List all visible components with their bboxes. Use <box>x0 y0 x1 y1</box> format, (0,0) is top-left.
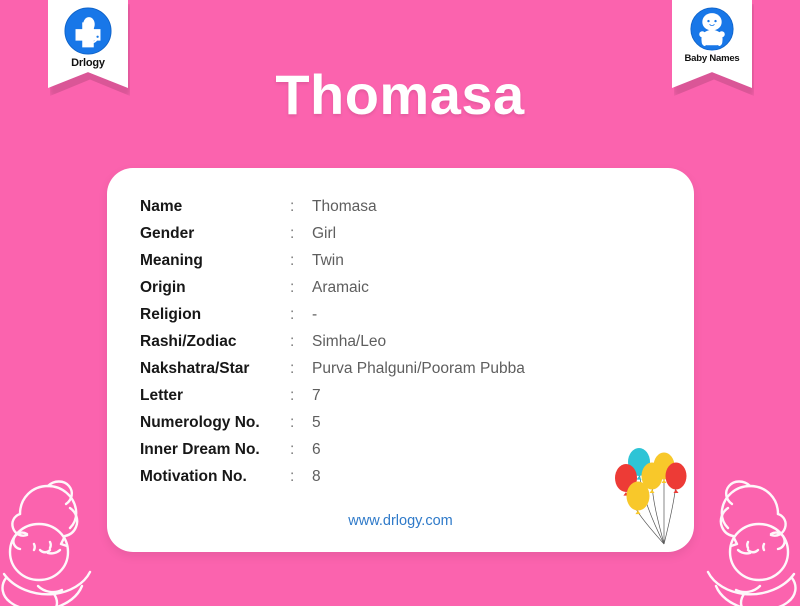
row-value: 7 <box>312 382 525 409</box>
row-value: - <box>312 301 525 328</box>
baby-name-card-page: { "theme": { "background_color": "#fb63a… <box>0 0 800 600</box>
row-value: Twin <box>312 247 525 274</box>
name-details-card: Name : Thomasa Gender : Girl Meaning : T… <box>107 168 694 552</box>
row-separator: : <box>290 193 312 220</box>
table-body: Name : Thomasa Gender : Girl Meaning : T… <box>140 193 525 490</box>
website-link[interactable]: www.drlogy.com <box>107 513 694 529</box>
row-value: Thomasa <box>312 193 525 220</box>
table-row: Name : Thomasa <box>140 193 525 220</box>
page-title: Thomasa <box>0 62 800 127</box>
baby-icon <box>690 7 734 51</box>
row-separator: : <box>290 436 312 463</box>
row-separator: : <box>290 355 312 382</box>
balloons-icon <box>608 440 692 552</box>
row-value: 5 <box>312 409 525 436</box>
row-label: Letter <box>140 382 290 409</box>
table-row: Origin : Aramaic <box>140 274 525 301</box>
table-row: Letter : 7 <box>140 382 525 409</box>
table-row: Rashi/Zodiac : Simha/Leo <box>140 328 525 355</box>
table-row: Meaning : Twin <box>140 247 525 274</box>
row-separator: : <box>290 220 312 247</box>
table-row: Nakshatra/Star : Purva Phalguni/Pooram P… <box>140 355 525 382</box>
row-label: Inner Dream No. <box>140 436 290 463</box>
row-value: Aramaic <box>312 274 525 301</box>
row-value: Girl <box>312 220 525 247</box>
drlogy-doctor-icon <box>64 7 112 55</box>
row-label: Meaning <box>140 247 290 274</box>
row-label: Name <box>140 193 290 220</box>
row-separator: : <box>290 409 312 436</box>
row-label: Numerology No. <box>140 409 290 436</box>
row-label: Motivation No. <box>140 463 290 490</box>
row-separator: : <box>290 301 312 328</box>
table-row: Numerology No. : 5 <box>140 409 525 436</box>
row-value: 8 <box>312 463 525 490</box>
table-row: Inner Dream No. : 6 <box>140 436 525 463</box>
mother-and-baby-watermark-right <box>698 474 800 606</box>
row-separator: : <box>290 247 312 274</box>
row-label: Origin <box>140 274 290 301</box>
table-row: Religion : - <box>140 301 525 328</box>
row-value: 6 <box>312 436 525 463</box>
name-details-table: Name : Thomasa Gender : Girl Meaning : T… <box>140 193 525 490</box>
table-row: Motivation No. : 8 <box>140 463 525 490</box>
row-separator: : <box>290 463 312 490</box>
row-separator: : <box>290 274 312 301</box>
row-label: Rashi/Zodiac <box>140 328 290 355</box>
row-label: Religion <box>140 301 290 328</box>
table-row: Gender : Girl <box>140 220 525 247</box>
row-separator: : <box>290 328 312 355</box>
row-separator: : <box>290 382 312 409</box>
row-label: Gender <box>140 220 290 247</box>
row-value: Purva Phalguni/Pooram Pubba <box>312 355 525 382</box>
row-value: Simha/Leo <box>312 328 525 355</box>
row-label: Nakshatra/Star <box>140 355 290 382</box>
mother-and-baby-watermark-left <box>0 474 100 606</box>
